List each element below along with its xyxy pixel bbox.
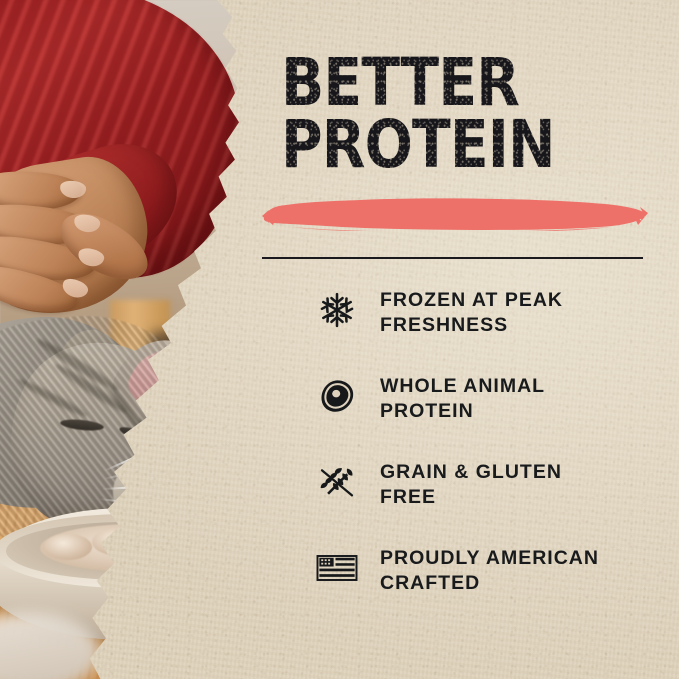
list-item-label: GRAIN & GLUTEN FREE xyxy=(380,458,562,509)
list-item-label: WHOLE ANIMAL PROTEIN xyxy=(380,372,545,423)
american-flag-icon xyxy=(316,546,358,590)
page-title: BETTER PROTEIN xyxy=(281,52,608,176)
list-item: FROZEN AT PEAK FRESHNESS xyxy=(316,286,666,372)
meat-cut-icon xyxy=(316,374,358,418)
panel-content: BETTER PROTEIN xyxy=(0,0,679,679)
promo-image-canvas: BETTER PROTEIN xyxy=(0,0,679,679)
list-item-label: PROUDLY AMERICAN CRAFTED xyxy=(380,544,599,595)
list-item: PROUDLY AMERICAN CRAFTED xyxy=(316,544,666,630)
list-item: GRAIN & GLUTEN FREE xyxy=(316,458,666,544)
coral-brush-stroke-accent xyxy=(262,196,648,231)
title-line-1: BETTER xyxy=(281,52,608,114)
snowflake-icon xyxy=(316,288,358,332)
list-item-label: FROZEN AT PEAK FRESHNESS xyxy=(380,286,563,337)
wheat-crossed-out-icon xyxy=(316,460,358,504)
feature-list: FROZEN AT PEAK FRESHNESS WHOLE ANIMAL PR… xyxy=(316,286,666,630)
horizontal-divider xyxy=(262,257,643,259)
title-line-2: PROTEIN xyxy=(281,114,608,176)
list-item: WHOLE ANIMAL PROTEIN xyxy=(316,372,666,458)
